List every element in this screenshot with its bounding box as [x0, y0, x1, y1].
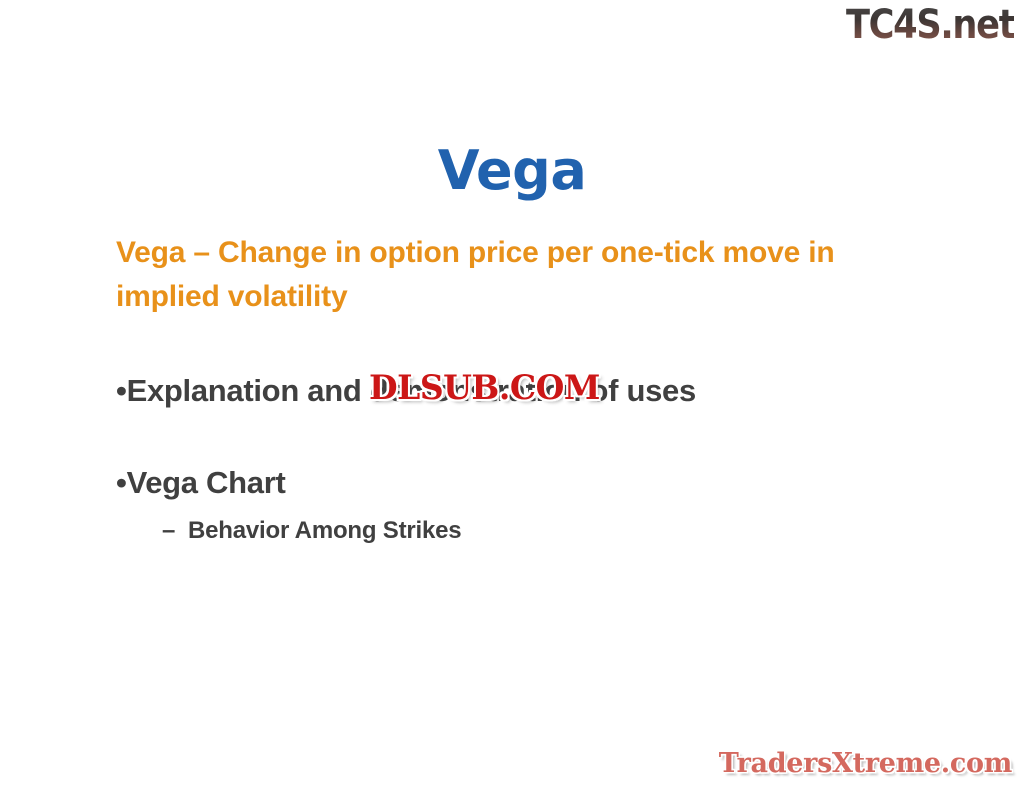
bullet-marker-icon: •: [116, 373, 127, 408]
page-title: Vega: [0, 140, 1024, 202]
spacer: [116, 319, 916, 371]
bullet-marker-icon: •: [116, 465, 127, 500]
lead-definition-text: Vega – Change in option price per one-ti…: [116, 231, 876, 319]
bullet-item-explanation: •Explanation and demonstration of uses: [116, 371, 916, 411]
spacer: [116, 411, 916, 463]
tc4s-site-watermark: TC4S.net: [846, 2, 1014, 48]
bullet-item-label: Explanation and demonstration of uses: [127, 373, 696, 408]
slide-body: Vega – Change in option price per one-ti…: [116, 231, 916, 548]
slide-canvas: TC4S.net Vega Vega – Change in option pr…: [0, 0, 1024, 791]
spacer: [116, 503, 916, 514]
tradersxtreme-watermark: TradersXtreme.com: [719, 747, 1012, 781]
sub-bullet-item-behavior: –Behavior Among Strikes: [116, 514, 916, 548]
dash-marker-icon: –: [162, 514, 175, 548]
sub-bullet-item-label: Behavior Among Strikes: [162, 517, 461, 544]
bullet-item-label: Vega Chart: [127, 465, 286, 500]
bullet-item-vega-chart: •Vega Chart: [116, 463, 916, 503]
